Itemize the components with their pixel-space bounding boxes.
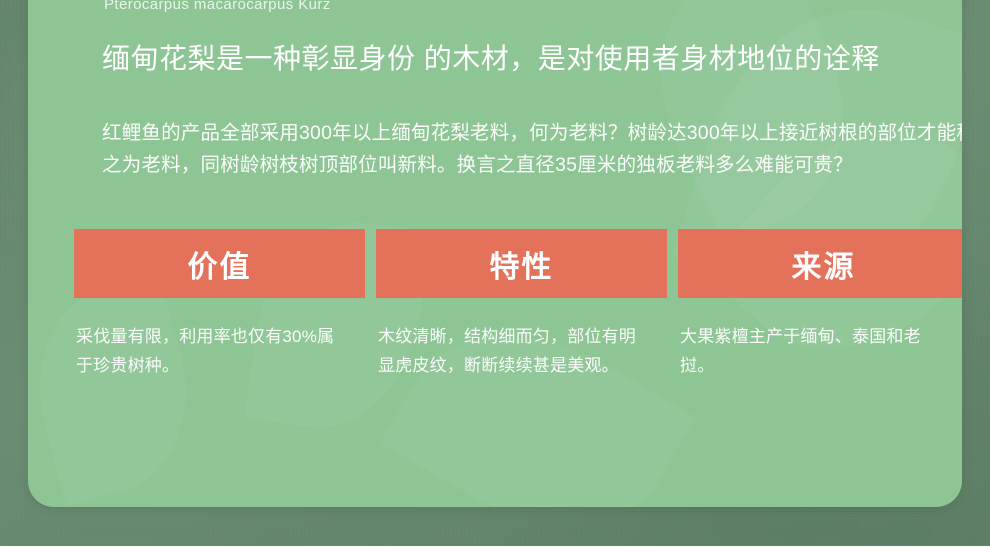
feature-card-body: 大果紫檀主产于缅甸、泰国和老挝。	[678, 322, 932, 380]
feature-card-title: 来源	[792, 242, 856, 286]
feature-card-characteristics: 特性 木纹清晰，结构细而匀，部位有明显虎皮纹，断断续续甚是美观。	[376, 229, 667, 380]
product-detail-page: Pterocarpus macarocarpus Kurz 缅甸花梨是一种彰显身…	[0, 0, 990, 552]
feature-card-value: 价值 采伐量有限，利用率也仅有30%属于珍贵树种。	[74, 229, 365, 380]
feature-card-header: 价值	[74, 229, 365, 298]
latin-species-name: Pterocarpus macarocarpus Kurz	[104, 0, 331, 13]
feature-card-body: 木纹清晰，结构细而匀，部位有明显虎皮纹，断断续续甚是美观。	[376, 322, 652, 380]
feature-card-origin: 来源 大果紫檀主产于缅甸、泰国和老挝。	[678, 229, 962, 380]
feature-card-title: 特性	[490, 242, 554, 286]
feature-card-title: 价值	[188, 242, 252, 286]
feature-card-body: 采伐量有限，利用率也仅有30%属于珍贵树种。	[74, 322, 350, 380]
bottom-white-strip	[0, 546, 990, 552]
feature-card-list: 价值 采伐量有限，利用率也仅有30%属于珍贵树种。 特性 木纹清晰，结构细而匀，…	[74, 229, 962, 380]
content-panel: Pterocarpus macarocarpus Kurz 缅甸花梨是一种彰显身…	[28, 0, 962, 507]
feature-card-header: 来源	[678, 229, 962, 298]
feature-card-header: 特性	[376, 229, 667, 298]
intro-paragraph: 红鲤鱼的产品全部采用300年以上缅甸花梨老料，何为老料？树龄达300年以上接近树…	[102, 117, 962, 181]
page-title: 缅甸花梨是一种彰显身份 的木材，是对使用者身材地位的诠释	[102, 39, 880, 79]
